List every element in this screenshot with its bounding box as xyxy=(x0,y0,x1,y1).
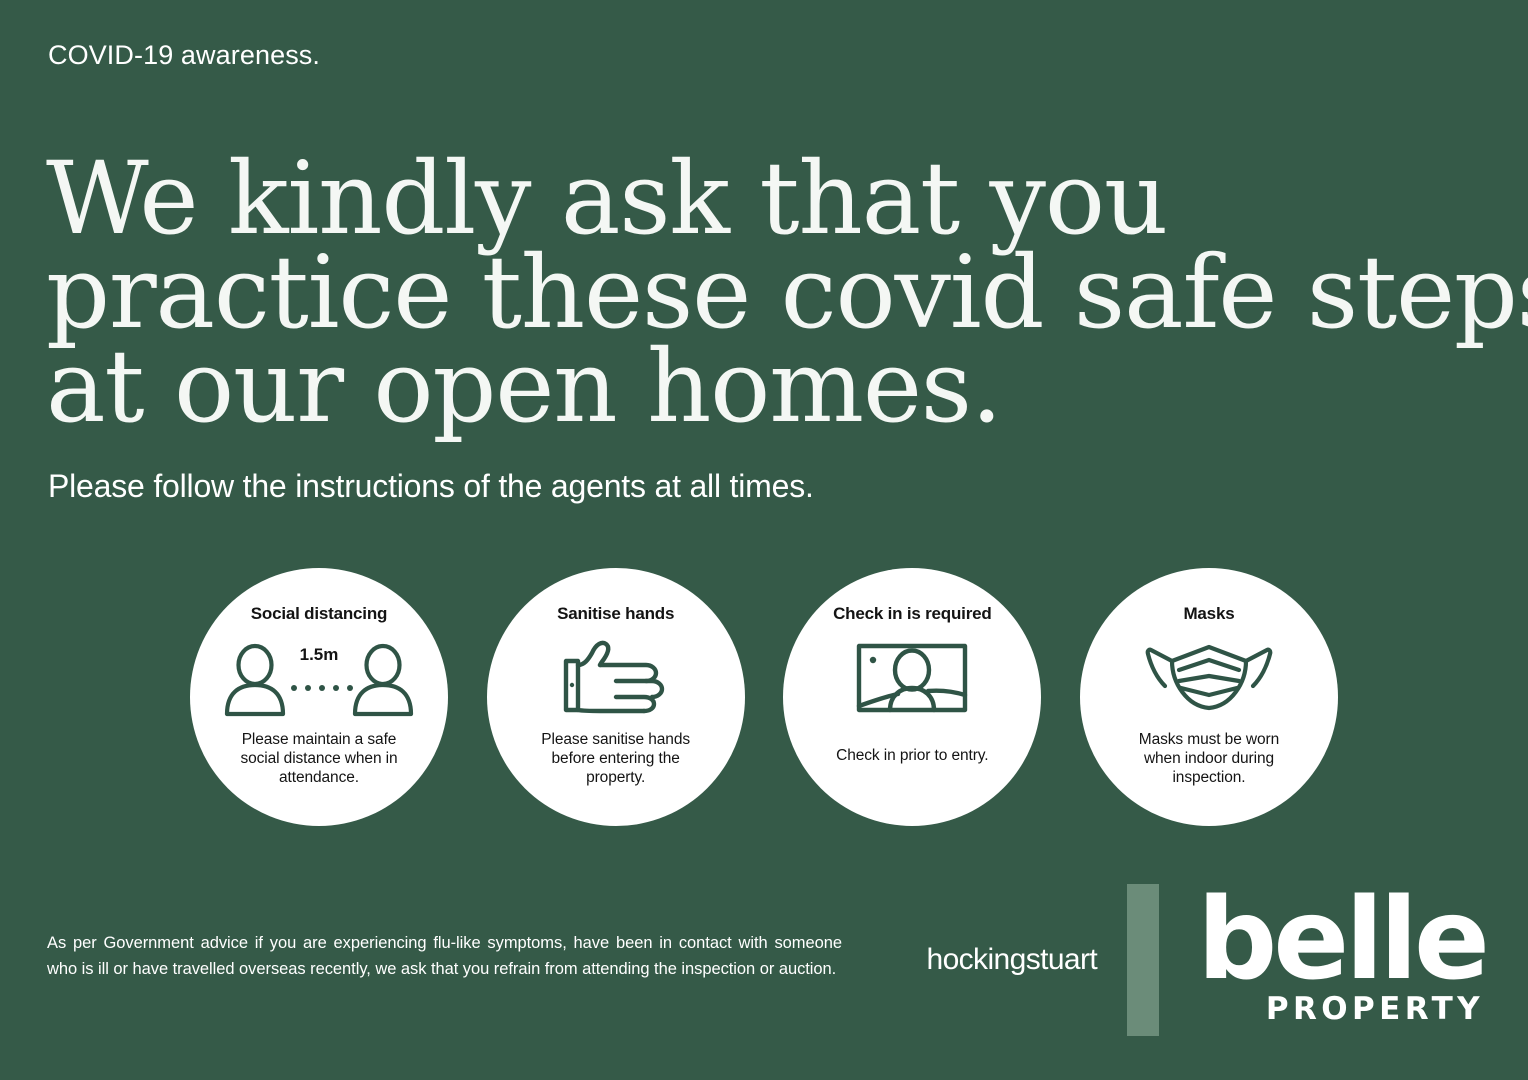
hockingstuart-logo: hockingstuart xyxy=(926,943,1097,977)
hand-icon xyxy=(560,638,672,716)
face-mask-icon xyxy=(1145,638,1273,716)
badge-check-in: Check in is required Check in prior to e… xyxy=(783,568,1041,826)
badge-social-distancing: Social distancing xyxy=(190,568,448,826)
id-card-icon xyxy=(854,638,970,716)
belle-wordmark: belle xyxy=(1197,894,1486,986)
distance-label: 1.5m xyxy=(300,645,339,664)
headline-line-3: at our open homes. xyxy=(46,340,1386,434)
covid-steps-list: Social distancing xyxy=(190,568,1338,826)
badge-title: Check in is required xyxy=(833,604,992,624)
subheading: Please follow the instructions of the ag… xyxy=(48,468,814,505)
badge-masks: Masks Masks must be worn when indoor dur… xyxy=(1080,568,1338,826)
covid-awareness-poster: COVID-19 awareness. We kindly ask that y… xyxy=(0,0,1528,1080)
headline-line-1: We kindly ask that you xyxy=(46,152,1386,246)
badge-sanitise-hands: Sanitise hands Plea xyxy=(487,568,745,826)
logo-group: hockingstuart belle PROPERTY xyxy=(926,880,1486,1040)
badge-description: Masks must be worn when indoor during in… xyxy=(1119,730,1299,787)
belle-property-logo: belle PROPERTY xyxy=(1197,894,1486,1026)
badge-description: Check in prior to entry. xyxy=(822,746,1002,765)
social-distancing-icon: 1.5m xyxy=(219,638,419,716)
badge-title: Sanitise hands xyxy=(557,604,674,624)
badge-title: Social distancing xyxy=(251,604,387,624)
government-advice-note: As per Government advice if you are expe… xyxy=(47,930,842,982)
headline-line-2: practice these covid safe steps xyxy=(46,246,1386,340)
logo-divider xyxy=(1127,884,1159,1036)
badge-title: Masks xyxy=(1183,604,1234,624)
badge-description: Please maintain a safe social distance w… xyxy=(229,730,409,787)
badge-description: Please sanitise hands before entering th… xyxy=(526,730,706,787)
page-title: We kindly ask that you practice these co… xyxy=(46,152,1386,434)
eyebrow-label: COVID-19 awareness. xyxy=(48,40,320,71)
belle-property-subtext: PROPERTY xyxy=(1266,992,1484,1026)
